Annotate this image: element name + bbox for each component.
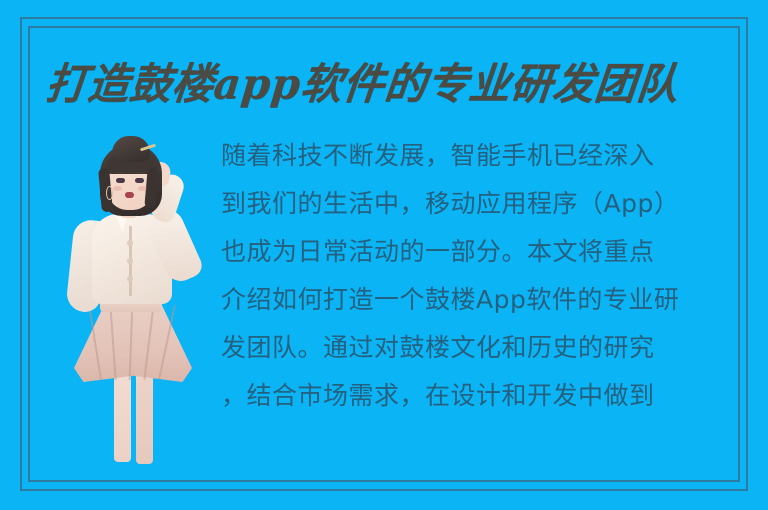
body-line: 也成为日常活动的一部分。本文将重点 <box>221 228 740 276</box>
figure-earring <box>106 186 113 200</box>
character-illustration <box>56 128 208 464</box>
figure-blouse-button <box>127 240 133 246</box>
body-line: 介绍如何打造一个鼓楼App软件的专业研 <box>221 276 740 324</box>
figure-blouse-button <box>127 276 133 282</box>
poster-title: 打造鼓楼app软件的专业研发团队 <box>43 55 689 113</box>
body-line: 到我们的生活中，移动应用程序（App） <box>221 180 740 228</box>
figure-mouth <box>125 192 134 198</box>
figure-blouse-button <box>127 258 133 264</box>
poster-body-text: 随着科技不断发展，智能手机已经深入 到我们的生活中，移动应用程序（App） 也成… <box>221 132 740 422</box>
body-line: ，结合市场需求，在设计和开发中做到 <box>221 372 740 420</box>
figure-blush-left <box>113 186 122 191</box>
figure-eyebrow-right <box>135 172 145 174</box>
figure-eye-right <box>135 178 144 183</box>
figure-eyebrow-left <box>115 172 125 174</box>
poster-canvas: 打造鼓楼app软件的专业研发团队 随着科技不断发展，智能手机已经深入 到我们的生… <box>0 0 768 510</box>
figure-eye-left <box>116 178 125 183</box>
body-line: 发团队。通过对鼓楼文化和历史的研究 <box>221 324 740 372</box>
figure-blush-right <box>138 186 147 191</box>
body-line: 随着科技不断发展，智能手机已经深入 <box>221 132 740 180</box>
